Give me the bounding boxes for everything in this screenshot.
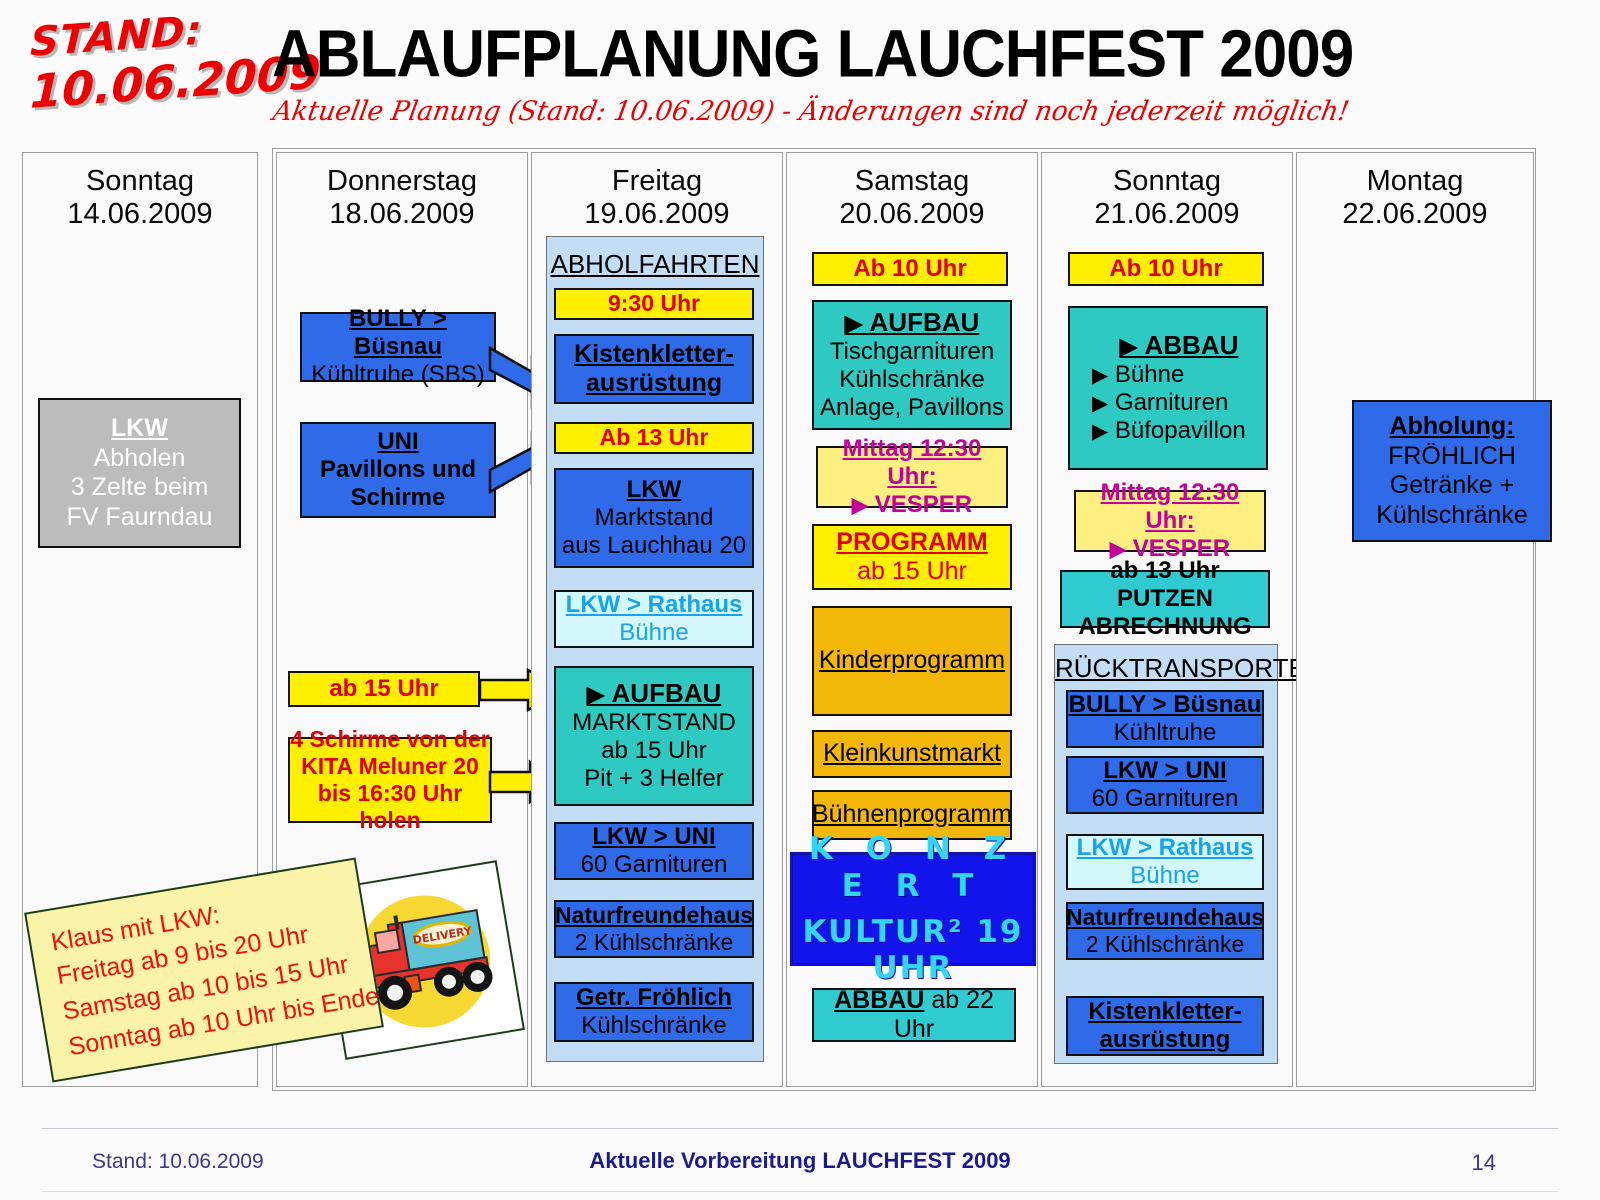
box-aufbau-sat[interactable]: ▶ AUFBAU Tischgarnituren Kühlschränke An…	[812, 300, 1012, 430]
box-930-uhr[interactable]: 9:30 Uhr	[554, 288, 754, 320]
box-kistenkletterausruestung-sun[interactable]: Kistenkletter- ausrüstung	[1066, 996, 1264, 1056]
triangle-bullet-icon: ▶	[1120, 333, 1138, 359]
page-header: STAND: 10.06.2009 ABLAUFPLANUNG LAUCHFES…	[0, 0, 1600, 148]
box-title: Getr. Fröhlich	[576, 984, 732, 1012]
box-title: LKW	[111, 414, 168, 444]
box-line: MARKTSTAND	[572, 709, 736, 737]
box-title: Naturfreundehaus	[1066, 904, 1264, 931]
box-title: Mittag 12:30 Uhr:	[818, 435, 1006, 492]
box-line: ▶ Garnituren	[1092, 389, 1228, 417]
box-naturfreundehaus-fri[interactable]: Naturfreundehaus 2 Kühlschränke	[554, 900, 754, 958]
box-title: Mittag 12:30 Uhr:	[1076, 479, 1264, 536]
box-vesper-sun[interactable]: Mittag 12:30 Uhr: ▶ VESPER	[1074, 490, 1266, 552]
column-date: 22.06.2009	[1342, 198, 1487, 230]
box-line: Schirme	[351, 484, 446, 512]
column-date: 14.06.2009	[67, 198, 212, 230]
box-line: Ab 10 Uhr	[853, 255, 966, 283]
box-line: Kistenkletter-	[574, 340, 734, 370]
box-title: LKW > UNI	[592, 823, 715, 851]
box-line: Kistenkletter-	[1088, 998, 1241, 1026]
box-line: bis 16:30 Uhr holen	[290, 780, 490, 834]
box-line: Pavillons und	[320, 456, 476, 484]
box-line: Kühltruhe	[1114, 719, 1217, 747]
box-lkw-marktstand[interactable]: LKW Marktstand aus Lauchhau 20	[554, 468, 754, 568]
box-4-schirme-kita[interactable]: 4 Schirme von der KITA Meluner 20 bis 16…	[288, 737, 492, 823]
box-line: 60 Garnituren	[1092, 785, 1239, 813]
box-title: LKW > Rathaus	[1077, 834, 1254, 862]
box-programm-sat[interactable]: PROGRAMM ab 15 Uhr	[812, 524, 1012, 590]
footer-title: Aktuelle Vorbereitung LAUCHFEST 2009	[0, 1148, 1600, 1174]
box-ab-10-uhr-sun[interactable]: Ab 10 Uhr	[1068, 252, 1264, 286]
box-line: Tischgarnituren	[830, 338, 995, 366]
box-line: Pit + 3 Helfer	[584, 765, 723, 793]
box-line: Kühlschränke	[1376, 501, 1527, 531]
box-line: Bühne	[619, 619, 688, 647]
box-line: Ab 13 Uhr	[600, 424, 709, 451]
box-title: BULLY > Büsnau	[1069, 691, 1262, 719]
box-title: ▶ AUFBAU	[587, 678, 722, 709]
box-bully-buesnau-sun[interactable]: BULLY > Büsnau Kühltruhe	[1066, 690, 1264, 748]
box-line: FV Faurndau	[67, 503, 213, 533]
box-line: ab 15 Uhr	[857, 557, 967, 587]
box-uni-pavillons[interactable]: UNI Pavillons und Schirme	[300, 422, 496, 518]
column-header-sonntag-21: Sonntag 21.06.2009	[1042, 165, 1292, 231]
box-line: Marktstand	[595, 504, 714, 532]
box-title: ABBAU	[834, 986, 924, 1014]
column-date: 18.06.2009	[329, 198, 474, 230]
box-line: Kühlschränke	[581, 1012, 726, 1040]
box-lkw-uni-fri[interactable]: LKW > UNI 60 Garnituren	[554, 822, 754, 880]
konzert-line-2: KULTUR² 19 UHR	[793, 914, 1033, 987]
box-lkw-rathaus-sun[interactable]: LKW > Rathaus Bühne	[1066, 834, 1264, 890]
box-title: PROGRAMM	[836, 528, 987, 558]
box-line: Getränke +	[1390, 471, 1514, 501]
box-line: Bühne	[1130, 862, 1199, 890]
box-title: UNI	[377, 428, 418, 456]
box-title: Kleinkunstmarkt	[823, 739, 1001, 769]
box-title: Naturfreundehaus	[555, 902, 753, 929]
stand-stamp: STAND: 10.06.2009	[30, 14, 280, 132]
footer-page-number: 14	[1472, 1150, 1496, 1176]
column-day: Donnerstag	[327, 165, 477, 197]
column-montag-22: Montag 22.06.2009	[1296, 152, 1534, 1087]
column-header-sonntag-14: Sonntag 14.06.2009	[23, 165, 257, 231]
box-konzert-kultur[interactable]: K O N Z E R T KULTUR² 19 UHR	[790, 852, 1036, 966]
triangle-bullet-icon: ▶	[587, 681, 605, 707]
page-subtitle: Aktuelle Planung (Stand: 10.06.2009) - Ä…	[271, 96, 1352, 127]
box-line: 60 Garnituren	[581, 851, 728, 879]
page-title: ABLAUFPLANUNG LAUCHFEST 2009	[272, 16, 1353, 93]
footer-divider-bottom	[42, 1191, 1558, 1192]
box-aufbau-marktstand[interactable]: ▶ AUFBAU MARKTSTAND ab 15 Uhr Pit + 3 He…	[554, 666, 754, 806]
konzert-line-1: K O N Z E R T	[793, 831, 1033, 904]
box-ab-13-uhr[interactable]: Ab 13 Uhr	[554, 422, 754, 454]
box-lkw-rathaus-fri[interactable]: LKW > Rathaus Bühne	[554, 590, 754, 648]
column-day: Montag	[1367, 165, 1464, 197]
box-vesper-sat[interactable]: Mittag 12:30 Uhr: ▶ VESPER	[816, 446, 1008, 508]
box-line: ABRECHNUNG	[1078, 613, 1251, 641]
box-line: 2 Kühlschränke	[1086, 931, 1245, 958]
box-line: Abholen	[94, 444, 186, 474]
box-line: 2 Kühlschränke	[575, 929, 734, 956]
box-line: FRÖHLICH	[1388, 442, 1516, 472]
box-line: 9:30 Uhr	[608, 290, 700, 317]
page-footer: Stand: 10.06.2009 Aktuelle Vorbereitung …	[0, 1114, 1600, 1200]
box-abholung-froehlich[interactable]: Abholung: FRÖHLICH Getränke + Kühlschrän…	[1352, 400, 1552, 542]
box-line: ABBAU ab 22 Uhr	[814, 986, 1014, 1045]
box-title: Kinderprogramm	[819, 646, 1005, 676]
box-getr-froehlich[interactable]: Getr. Fröhlich Kühlschränke	[554, 982, 754, 1042]
column-day: Samstag	[855, 165, 969, 197]
column-header-freitag-19: Freitag 19.06.2009	[532, 165, 782, 231]
box-title: ▶ AUFBAU	[845, 307, 980, 338]
column-date: 20.06.2009	[839, 198, 984, 230]
box-putzen-abrechnung[interactable]: ab 13 Uhr PUTZEN ABRECHNUNG	[1060, 570, 1270, 628]
footer-divider	[42, 1128, 1558, 1129]
panel-title-ruecktransporte: RÜCKTRANSPORTE	[1055, 653, 1277, 684]
box-title: LKW	[627, 476, 682, 504]
column-header-montag-22: Montag 22.06.2009	[1297, 165, 1533, 231]
box-title: ▶ ABBAU	[1120, 330, 1239, 361]
box-title: LKW > Rathaus	[566, 591, 743, 619]
box-line: ▶ VESPER	[852, 491, 972, 519]
box-line: Kühlschränke	[839, 366, 984, 394]
column-day: Sonntag	[86, 165, 194, 197]
column-date: 19.06.2009	[584, 198, 729, 230]
panel-title-abholfahrten: ABHOLFAHRTEN	[547, 249, 763, 280]
box-kinderprogramm[interactable]: Kinderprogramm	[812, 606, 1012, 716]
column-header-samstag-20: Samstag 20.06.2009	[787, 165, 1037, 231]
box-title: LKW > UNI	[1103, 757, 1226, 785]
triangle-bullet-icon: ▶	[1092, 364, 1108, 387]
box-kistenkletterausruestung-fri[interactable]: Kistenkletter- ausrüstung	[554, 334, 754, 404]
triangle-bullet-icon: ▶	[845, 310, 863, 336]
box-line: 3 Zelte beim	[71, 473, 209, 503]
column-day: Freitag	[612, 165, 702, 197]
box-line: ▶ Bühne	[1092, 361, 1184, 389]
box-line: ab 15 Uhr	[601, 737, 706, 765]
triangle-bullet-icon: ▶	[852, 494, 868, 517]
box-line: ▶ Büfopavillon	[1092, 417, 1246, 445]
box-naturfreundehaus-sun[interactable]: Naturfreundehaus 2 Kühlschränke	[1066, 902, 1264, 960]
box-ab-15-uhr-thu[interactable]: ab 15 Uhr	[288, 671, 480, 707]
box-line: Anlage, Pavillons	[820, 394, 1004, 422]
box-line: KITA Meluner 20	[301, 753, 479, 780]
box-line: ab 15 Uhr	[329, 675, 438, 703]
box-bully-buesnau-thu[interactable]: BULLY > Büsnau Kühltruhe (SBS)	[300, 312, 496, 382]
box-lkw-abholen[interactable]: LKW Abholen 3 Zelte beim FV Faurndau	[38, 398, 241, 548]
column-day: Sonntag	[1113, 165, 1221, 197]
triangle-bullet-icon: ▶	[1092, 392, 1108, 415]
box-line: ab 13 Uhr PUTZEN	[1062, 557, 1268, 614]
box-line: 4 Schirme von der	[290, 726, 489, 753]
box-line: Kühltruhe (SBS)	[311, 361, 484, 389]
column-date: 21.06.2009	[1094, 198, 1239, 230]
box-line: ausrüstung	[1100, 1026, 1231, 1054]
box-line: ausrüstung	[586, 369, 722, 399]
box-abbau-sun[interactable]: ▶ ABBAU ▶ Bühne ▶ Garnituren ▶ Büfopavil…	[1068, 306, 1268, 470]
box-title: Abholung:	[1390, 412, 1515, 442]
box-lkw-uni-sun[interactable]: LKW > UNI 60 Garnituren	[1066, 756, 1264, 814]
triangle-bullet-icon: ▶	[1092, 420, 1108, 443]
box-ab-10-uhr-sat[interactable]: Ab 10 Uhr	[812, 252, 1008, 286]
box-kleinkunstmarkt[interactable]: Kleinkunstmarkt	[812, 730, 1012, 778]
box-line: aus Lauchhau 20	[562, 532, 746, 560]
box-abbau-sat[interactable]: ABBAU ab 22 Uhr	[812, 988, 1016, 1042]
box-title: BULLY > Büsnau	[302, 305, 494, 362]
box-line: Ab 10 Uhr	[1109, 255, 1222, 283]
column-header-donnerstag-18: Donnerstag 18.06.2009	[277, 165, 527, 231]
box-title: Bühnenprogramm	[812, 800, 1012, 830]
